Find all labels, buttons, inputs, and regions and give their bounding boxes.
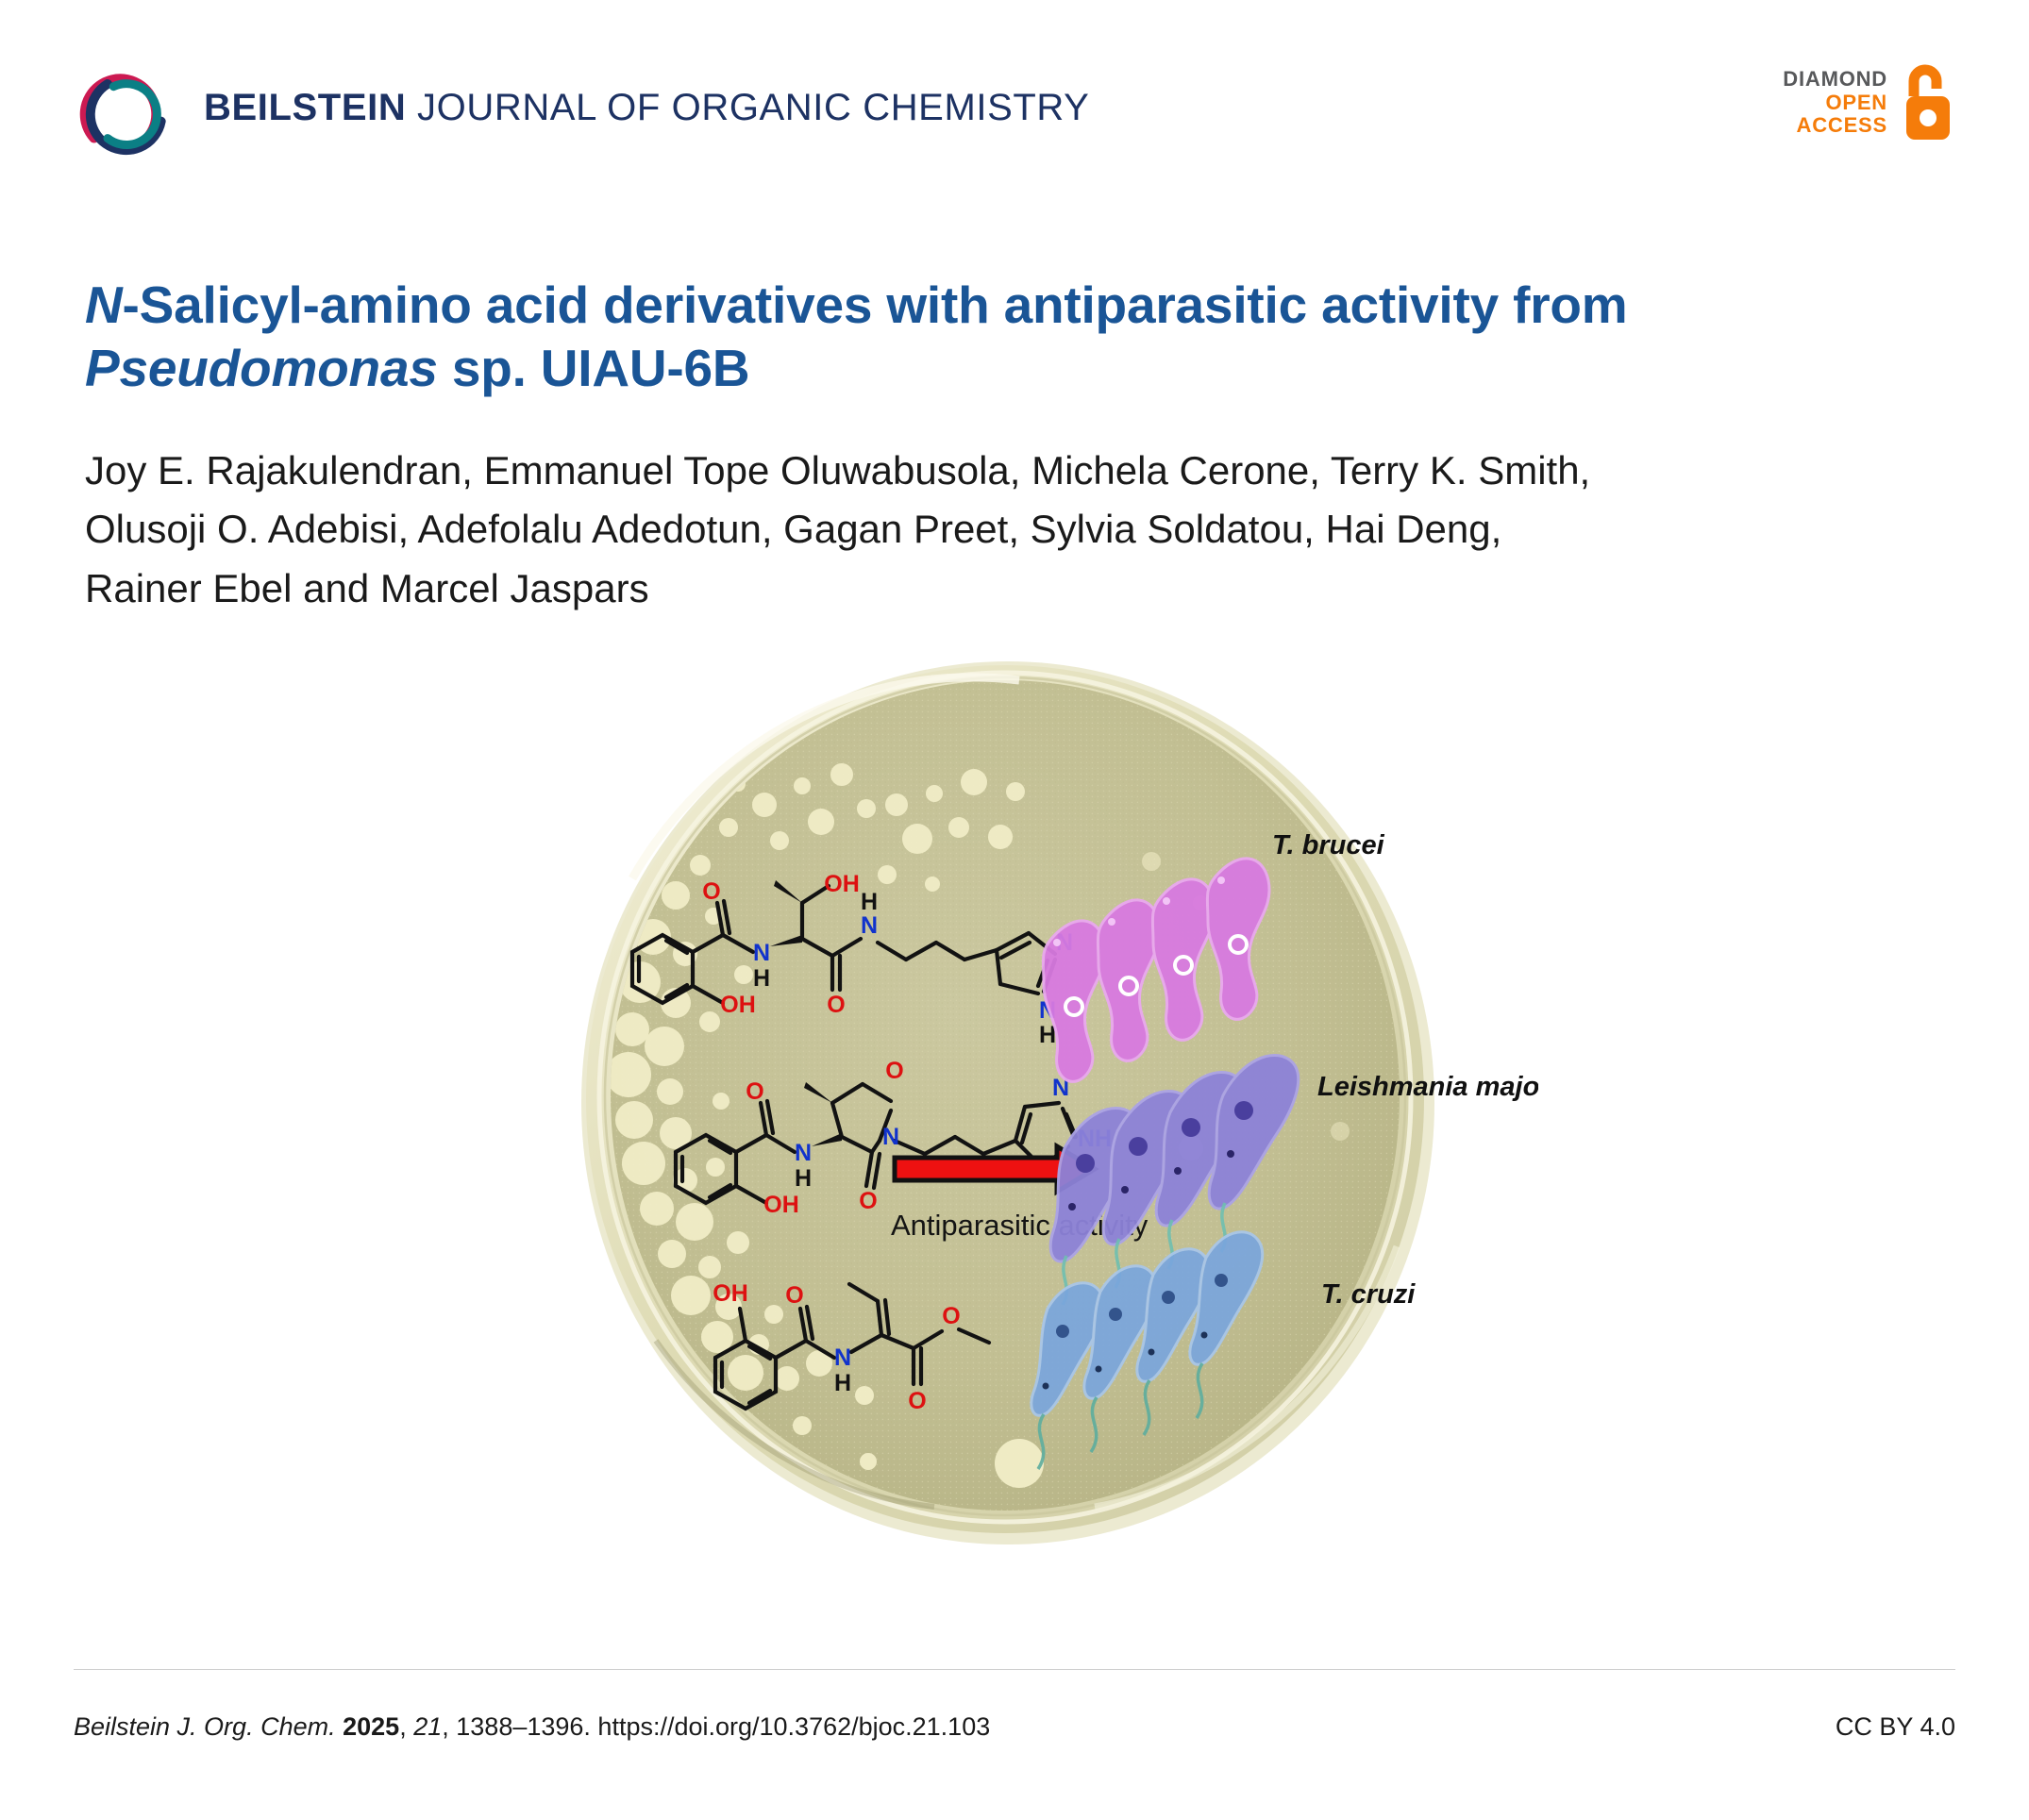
journal-wordmark: BEILSTEIN JOURNAL OF ORGANIC CHEMISTRY [204,89,1089,130]
license-label: CC BY 4.0 [1836,1712,1955,1742]
organism-label-t-cruzi: T. cruzi [1321,1279,1416,1310]
organism-label-t-brucei: T. brucei [1272,830,1385,860]
oa-label-access: ACCESS [1783,114,1887,138]
wordmark-subtitle: JOURNAL OF ORGANIC CHEMISTRY [417,87,1089,128]
citation-comma: , [399,1712,407,1741]
open-padlock-icon [1899,62,1955,143]
atom-label-N: N [834,1344,851,1371]
author-line-1: Joy E. Rajakulendran, Emmanuel Tope Oluw… [85,442,1670,500]
author-list: Joy E. Rajakulendran, Emmanuel Tope Oluw… [85,442,1670,617]
beilstein-spiral-logo-icon [74,58,176,160]
author-line-2: Olusoji O. Adebisi, Adefolalu Adedotun, … [85,500,1670,559]
graphical-abstract-canvas: O N H OH N H O N N H OH [491,643,1538,1548]
citation-line: Beilstein J. Org. Chem. 2025, 21, 1388–1… [74,1712,990,1742]
atom-label-O: O [746,1078,763,1105]
citation-doi-link[interactable]: https://doi.org/10.3762/bjoc.21.103 [597,1712,990,1741]
atom-label-O: O [859,1188,877,1214]
journal-brand[interactable]: BEILSTEIN JOURNAL OF ORGANIC CHEMISTRY [74,58,1089,160]
atom-label-O: O [942,1303,960,1329]
atom-label-OH: OH [824,871,860,897]
article-cover-page: BEILSTEIN JOURNAL OF ORGANIC CHEMISTRY D… [0,0,2029,1820]
atom-label-OH: OH [763,1192,799,1218]
masthead: BEILSTEIN JOURNAL OF ORGANIC CHEMISTRY D… [0,0,2029,170]
atom-label-O: O [908,1388,926,1414]
graphical-abstract: O N H OH N H O N N H OH [0,618,2029,1669]
atom-label-N: N [795,1140,812,1166]
title-plain-1: -Salicyl-amino acid derivatives with ant… [123,276,1628,334]
atom-label-N: N [753,940,770,966]
atom-label-N: N [861,912,878,939]
atom-label-H: H [795,1165,812,1192]
atom-label-N: N [882,1124,899,1150]
open-access-text: DIAMOND OPEN ACCESS [1783,68,1887,138]
atom-label-H: H [834,1370,851,1396]
wordmark-beilstein: BEILSTEIN [204,87,406,128]
atom-label-OH: OH [713,1280,748,1307]
atom-label-O: O [885,1058,903,1084]
atom-label-OH: OH [720,992,756,1018]
citation-year: 2025 [343,1712,399,1741]
title-italic-genus: Pseudomonas [85,339,438,397]
page-title: N-Salicyl-amino acid derivatives with an… [85,274,1689,400]
author-line-3: Rainer Ebel and Marcel Jaspars [85,559,1670,618]
title-plain-2: sp. UIAU-6B [438,339,750,397]
atom-label-O: O [702,878,720,905]
citation-journal: Beilstein J. Org. Chem. [74,1712,336,1741]
oa-label-diamond: DIAMOND [1783,68,1887,92]
organism-label-leishmania-major: Leishmania major [1317,1072,1538,1102]
petri-dish-figure: O N H OH N H O N N H OH [491,643,1538,1548]
footer-row: Beilstein J. Org. Chem. 2025, 21, 1388–1… [74,1712,1955,1742]
footer-divider [74,1669,1955,1670]
citation-pages: , 1388–1396. [442,1712,597,1741]
title-block: N-Salicyl-amino acid derivatives with an… [0,170,2029,618]
footer: Beilstein J. Org. Chem. 2025, 21, 1388–1… [0,1669,2029,1820]
atom-label-H: H [753,965,770,992]
title-italic-n: N [85,276,123,334]
citation-volume: 21 [413,1712,442,1741]
atom-label-O: O [785,1282,803,1309]
atom-label-O: O [827,992,845,1018]
atom-label-H: H [861,889,878,915]
oa-label-open: OPEN [1783,92,1887,115]
diamond-open-access-badge[interactable]: DIAMOND OPEN ACCESS [1783,62,1955,143]
